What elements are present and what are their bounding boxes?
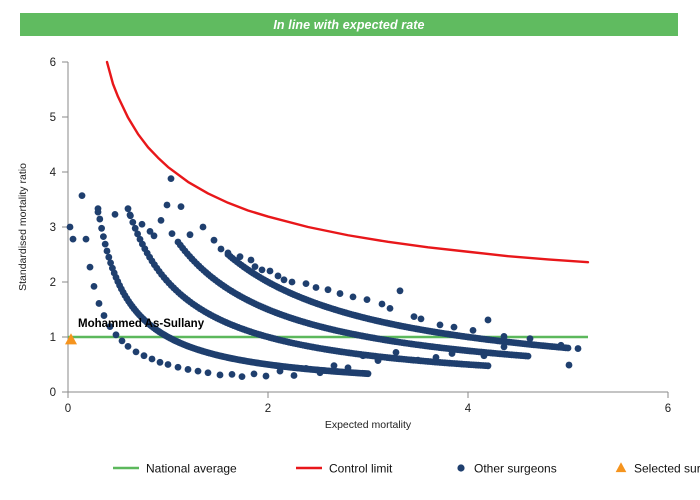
scatter-point bbox=[95, 209, 102, 216]
scatter-point bbox=[277, 368, 284, 375]
scatter-point bbox=[178, 203, 185, 210]
scatter-point bbox=[133, 348, 140, 355]
scatter-point bbox=[225, 249, 232, 256]
scatter-point bbox=[252, 263, 259, 270]
scatter-point bbox=[418, 315, 425, 322]
scatter-point bbox=[102, 241, 109, 248]
scatter-point bbox=[259, 267, 266, 274]
scatter-point bbox=[387, 305, 394, 312]
scatter-point bbox=[364, 296, 371, 303]
scatter-point bbox=[566, 362, 573, 369]
scatter-point bbox=[205, 369, 212, 376]
scatter-point bbox=[113, 331, 120, 338]
scatter-point bbox=[575, 345, 582, 352]
scatter-point bbox=[96, 216, 103, 223]
scatter-point bbox=[365, 370, 372, 377]
scatter-point bbox=[393, 349, 400, 356]
status-banner-label: In line with expected rate bbox=[273, 18, 424, 32]
scatter-point bbox=[218, 246, 225, 253]
status-banner: In line with expected rate bbox=[20, 13, 678, 36]
scatter-point bbox=[195, 368, 202, 375]
scatter-point bbox=[291, 372, 298, 379]
scatter-point bbox=[112, 211, 119, 218]
legend-item[interactable]: National average bbox=[113, 462, 237, 476]
legend-triangle-swatch bbox=[616, 462, 627, 472]
scatter-point bbox=[139, 221, 146, 228]
scatter-point bbox=[200, 224, 207, 231]
scatter-point bbox=[165, 361, 172, 368]
scatter-point bbox=[211, 237, 218, 244]
other-surgeons-scatter bbox=[67, 175, 582, 380]
scatter-point bbox=[558, 342, 565, 349]
scatter-point bbox=[251, 370, 258, 377]
scatter-point bbox=[289, 279, 296, 286]
selected-surgeon-marker[interactable] bbox=[65, 333, 77, 344]
chart-page: In line with expected rate 0123456 0246 … bbox=[0, 0, 700, 500]
scatter-point bbox=[98, 225, 105, 232]
scatter-point bbox=[485, 317, 492, 324]
y-tick-label: 1 bbox=[50, 332, 56, 344]
scatter-point bbox=[67, 224, 74, 231]
y-tick-label: 2 bbox=[50, 277, 56, 289]
axes bbox=[68, 62, 668, 392]
scatter-point bbox=[169, 230, 176, 237]
legend-circle-swatch bbox=[457, 464, 464, 471]
legend-item-label: Selected surgeon bbox=[634, 462, 700, 476]
scatter-point bbox=[125, 205, 132, 212]
y-tick-label: 3 bbox=[50, 222, 56, 234]
scatter-point bbox=[263, 373, 270, 380]
control-limit-curve bbox=[107, 62, 588, 262]
scatter-point bbox=[485, 362, 492, 369]
legend-item-label: Control limit bbox=[329, 462, 393, 476]
scatter-point bbox=[303, 365, 310, 372]
scatter-point bbox=[345, 364, 352, 371]
selected-surgeon-annotation: Mohammed As-Sullany bbox=[78, 318, 205, 330]
scatter-point bbox=[70, 236, 77, 243]
scatter-point bbox=[157, 359, 164, 366]
legend-item[interactable]: Selected surgeon bbox=[616, 462, 700, 476]
y-axis-ticks: 0123456 bbox=[50, 57, 68, 399]
scatter-point bbox=[501, 344, 508, 351]
scatter-point bbox=[525, 353, 532, 360]
scatter-point bbox=[185, 366, 192, 373]
x-axis-ticks: 0246 bbox=[65, 392, 671, 415]
scatter-point bbox=[325, 286, 332, 293]
scatter-point bbox=[527, 335, 534, 342]
y-axis-title: Standardised mortality ratio bbox=[17, 163, 29, 291]
scatter-point bbox=[375, 357, 382, 364]
scatter-point bbox=[129, 219, 136, 226]
scatter-point bbox=[481, 352, 488, 359]
scatter-point bbox=[237, 253, 244, 260]
scatter-point bbox=[267, 268, 274, 275]
scatter-point bbox=[379, 301, 386, 308]
scatter-point bbox=[151, 232, 158, 239]
scatter-point bbox=[104, 248, 111, 255]
scatter-point bbox=[303, 280, 310, 287]
scatter-point bbox=[501, 333, 508, 340]
scatter-point bbox=[164, 202, 171, 209]
scatter-point bbox=[350, 293, 357, 300]
scatter-point bbox=[217, 372, 224, 379]
scatter-point bbox=[248, 257, 255, 264]
scatter-point bbox=[119, 337, 126, 344]
scatter-point bbox=[96, 300, 103, 307]
x-tick-label: 4 bbox=[465, 403, 472, 415]
y-tick-label: 0 bbox=[50, 387, 56, 399]
scatter-point bbox=[449, 350, 456, 357]
scatter-point bbox=[83, 236, 90, 243]
scatter-point bbox=[239, 373, 246, 380]
scatter-point bbox=[158, 217, 165, 224]
scatter-point bbox=[168, 175, 175, 182]
legend-item-label: National average bbox=[146, 462, 237, 476]
scatter-point bbox=[415, 357, 422, 364]
legend-item[interactable]: Other surgeons bbox=[457, 462, 556, 476]
scatter-point bbox=[91, 283, 98, 290]
scatter-point bbox=[397, 287, 404, 294]
scatter-point bbox=[275, 273, 282, 280]
scatter-point bbox=[470, 327, 477, 334]
scatter-point bbox=[451, 324, 458, 331]
scatter-point bbox=[141, 352, 148, 359]
scatter-point bbox=[100, 233, 107, 240]
funnel-plot: 0123456 0246 Standardised mortality rati… bbox=[0, 36, 700, 500]
scatter-point bbox=[149, 356, 156, 363]
y-tick-label: 6 bbox=[50, 57, 56, 69]
scatter-point bbox=[125, 343, 132, 350]
scatter-point bbox=[281, 276, 288, 283]
scatter-point bbox=[87, 264, 94, 271]
scatter-point bbox=[187, 231, 194, 238]
scatter-point bbox=[337, 290, 344, 297]
scatter-point bbox=[317, 369, 324, 376]
scatter-point bbox=[229, 371, 236, 378]
legend-item[interactable]: Control limit bbox=[296, 462, 393, 476]
funnel-plot-svg: 0123456 0246 Standardised mortality rati… bbox=[0, 36, 700, 500]
scatter-point bbox=[313, 284, 320, 291]
y-tick-label: 5 bbox=[50, 112, 56, 124]
legend: National averageControl limitOther surge… bbox=[113, 462, 700, 476]
scatter-point bbox=[437, 322, 444, 329]
scatter-point bbox=[175, 364, 182, 371]
scatter-point bbox=[127, 212, 134, 219]
legend-item-label: Other surgeons bbox=[474, 462, 557, 476]
scatter-point bbox=[411, 313, 418, 320]
scatter-point bbox=[331, 362, 338, 369]
scatter-point bbox=[433, 354, 440, 361]
x-tick-label: 2 bbox=[265, 403, 271, 415]
scatter-point bbox=[360, 352, 367, 359]
x-axis-title: Expected mortality bbox=[325, 419, 412, 431]
y-tick-label: 4 bbox=[50, 167, 57, 179]
scatter-point bbox=[79, 192, 86, 199]
x-tick-label: 0 bbox=[65, 403, 71, 415]
scatter-point bbox=[565, 345, 572, 352]
x-tick-label: 6 bbox=[665, 403, 671, 415]
